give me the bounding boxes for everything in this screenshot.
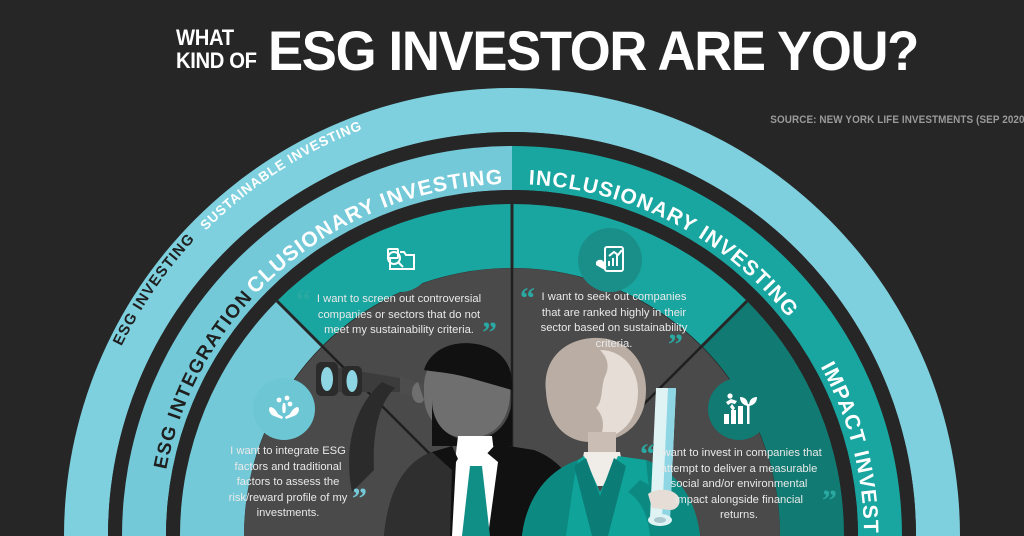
icon-inclusionary[interactable] bbox=[578, 228, 642, 292]
infographic-canvas: WHAT KIND OF ESG INVESTOR ARE YOU? SOURC… bbox=[0, 0, 1024, 536]
icon-exclusionary[interactable] bbox=[368, 228, 432, 292]
quote-open-mark: “ bbox=[640, 440, 655, 470]
quote-open-mark: “ bbox=[196, 438, 211, 468]
icon-impact[interactable] bbox=[708, 378, 770, 440]
quote-open-mark: “ bbox=[520, 284, 535, 314]
growth-bars-leaf-icon bbox=[720, 390, 758, 428]
quote-close-mark: ” bbox=[352, 484, 367, 514]
quote-close-mark: ” bbox=[668, 330, 683, 360]
quote-open-mark: “ bbox=[296, 286, 311, 316]
magnifier-folder-icon bbox=[382, 242, 418, 278]
quote-text-inclusionary: I want to seek out companies that are ra… bbox=[540, 290, 688, 352]
quote-close-mark: ” bbox=[822, 486, 837, 516]
hands-plant-icon bbox=[266, 391, 302, 427]
quote-text-impact: I want to invest in companies that attem… bbox=[656, 446, 822, 524]
icon-esg-integration[interactable] bbox=[253, 378, 315, 440]
quote-text-esg-integration: I want to integrate ESG factors and trad… bbox=[218, 444, 358, 522]
esg-dial: ESG INVESTING SUSTAINABLE INVESTING ESG … bbox=[0, 0, 1024, 536]
quote-text-exclusionary: I want to screen out controversial compa… bbox=[316, 292, 482, 339]
quote-close-mark: ” bbox=[482, 318, 497, 348]
tablet-chart-touch-icon bbox=[592, 242, 628, 278]
